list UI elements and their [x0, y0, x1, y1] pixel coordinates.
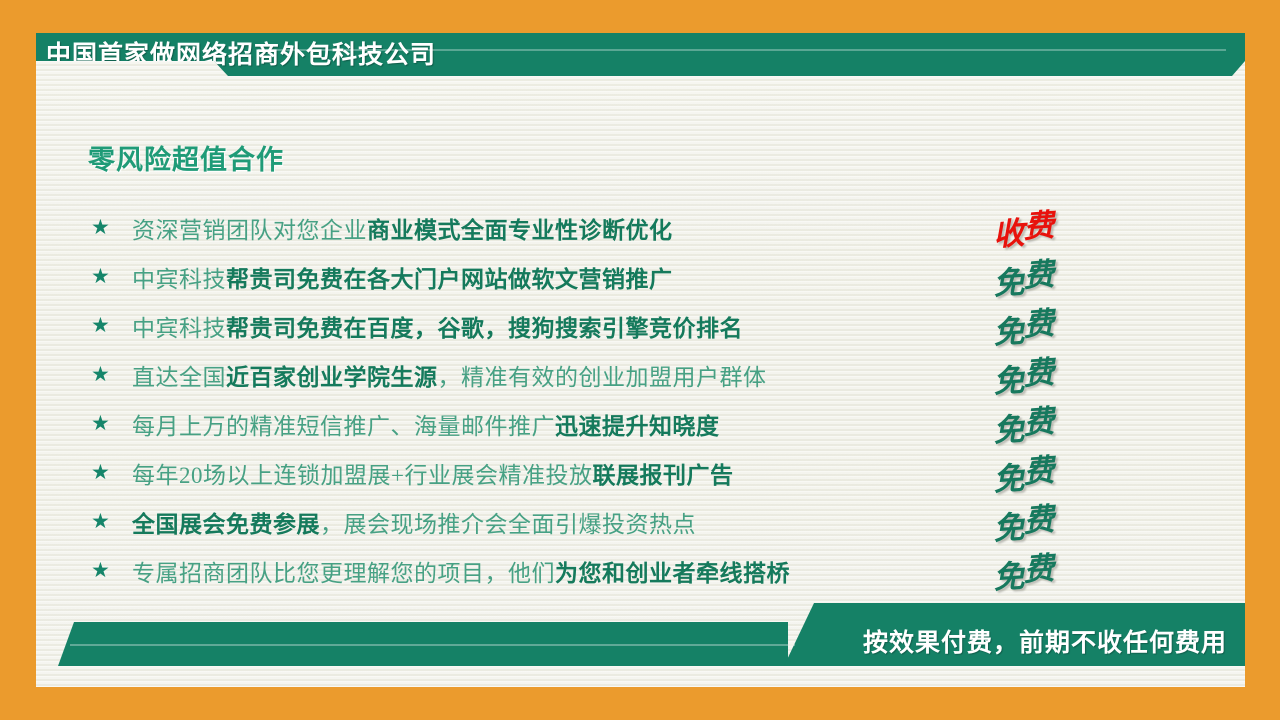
- bullet-row: ★每月上万的精准短信推广、海量邮件推广迅速提升知晓度免费: [88, 399, 1098, 448]
- bullet-text-emphasis: 商业模式全面专业性诊断优化: [367, 218, 673, 243]
- bullet-text-lead: 直达全国: [132, 365, 226, 390]
- bullet-row: ★资深营销团队对您企业商业模式全面专业性诊断优化收费: [88, 203, 1098, 252]
- bullet-row: ★每年20场以上连锁加盟展+行业展会精准投放联展报刊广告免费: [88, 448, 1098, 497]
- header-band: 中国首家做网络招商外包科技公司: [36, 33, 1245, 76]
- slide-canvas: 中国首家做网络招商外包科技公司 零风险超值合作 ★资深营销团队对您企业商业模式全…: [36, 33, 1245, 687]
- star-icon: ★: [88, 462, 132, 483]
- bullet-text-lead: 中宾科技: [132, 316, 226, 341]
- bullet-text: 每月上万的精准短信推广、海量邮件推广迅速提升知晓度: [132, 407, 1098, 441]
- bullet-row: ★专属招商团队比您更理解您的项目，他们为您和创业者牵线搭桥免费: [88, 546, 1098, 595]
- price-badge: 免费: [968, 352, 1078, 397]
- price-badge: 免费: [968, 401, 1078, 446]
- bullet-text-emphasis: 帮贵司免费在百度，谷歌，搜狗搜索引擎竞价排名: [226, 316, 743, 341]
- star-icon: ★: [88, 413, 132, 434]
- bullet-row: ★中宾科技帮贵司免费在百度，谷歌，搜狗搜索引擎竞价排名免费: [88, 301, 1098, 350]
- bullet-text: 资深营销团队对您企业商业模式全面专业性诊断优化: [132, 211, 1098, 245]
- bullet-text-lead: 中宾科技: [132, 267, 226, 292]
- bullet-text-emphasis: 为您和创业者牵线搭桥: [555, 561, 790, 586]
- bullet-text-lead: 每月上万的精准短信推广、海量邮件推广: [132, 414, 555, 439]
- price-badge: 免费: [968, 450, 1078, 495]
- bullet-text: 直达全国近百家创业学院生源，精准有效的创业加盟用户群体: [132, 358, 1098, 392]
- bullet-text: 每年20场以上连锁加盟展+行业展会精准投放联展报刊广告: [132, 456, 1098, 490]
- bullet-row: ★中宾科技帮贵司免费在各大门户网站做软文营销推广免费: [88, 252, 1098, 301]
- bullet-text-emphasis: 帮贵司免费在各大门户网站做软文营销推广: [226, 267, 673, 292]
- bullet-list: ★资深营销团队对您企业商业模式全面专业性诊断优化收费★中宾科技帮贵司免费在各大门…: [88, 203, 1098, 595]
- footer-band: 按效果付费，前期不收任何费用: [36, 609, 1245, 687]
- price-badge: 免费: [968, 548, 1078, 593]
- slide-root: 中国首家做网络招商外包科技公司 零风险超值合作 ★资深营销团队对您企业商业模式全…: [0, 0, 1280, 720]
- price-badge: 收费: [968, 205, 1078, 250]
- footer-text: 按效果付费，前期不收任何费用: [863, 623, 1227, 659]
- star-icon: ★: [88, 217, 132, 238]
- bullet-text-emphasis: 联展报刊广告: [592, 463, 733, 488]
- bullet-text-lead: 每年20场以上连锁加盟展+行业展会精准投放: [132, 463, 592, 488]
- bullet-text-tail: ，精准有效的创业加盟用户群体: [438, 365, 767, 390]
- star-icon: ★: [88, 266, 132, 287]
- price-badge: 免费: [968, 499, 1078, 544]
- bullet-text-tail: ，展会现场推介会全面引爆投资热点: [320, 512, 696, 537]
- bullet-text-emphasis: 近百家创业学院生源: [226, 365, 438, 390]
- bullet-text: 中宾科技帮贵司免费在百度，谷歌，搜狗搜索引擎竞价排名: [132, 309, 1098, 343]
- bullet-row: ★全国展会免费参展，展会现场推介会全面引爆投资热点免费: [88, 497, 1098, 546]
- bullet-text-lead: 资深营销团队对您企业: [132, 218, 367, 243]
- header-hairline-divider: [258, 49, 1226, 51]
- star-icon: ★: [88, 364, 132, 385]
- bullet-text-emphasis: 全国展会免费参展: [132, 512, 320, 537]
- bullet-text: 中宾科技帮贵司免费在各大门户网站做软文营销推广: [132, 260, 1098, 294]
- bullet-text: 全国展会免费参展，展会现场推介会全面引爆投资热点: [132, 505, 1098, 539]
- bullet-row: ★直达全国近百家创业学院生源，精准有效的创业加盟用户群体免费: [88, 350, 1098, 399]
- bullet-text-emphasis: 迅速提升知晓度: [555, 414, 720, 439]
- price-badge: 免费: [968, 254, 1078, 299]
- bullet-text-lead: 专属招商团队比您更理解您的项目，他们: [132, 561, 555, 586]
- section-heading: 零风险超值合作: [88, 138, 284, 177]
- star-icon: ★: [88, 560, 132, 581]
- star-icon: ★: [88, 511, 132, 532]
- footer-hairline-divider: [70, 644, 795, 646]
- bullet-text: 专属招商团队比您更理解您的项目，他们为您和创业者牵线搭桥: [132, 554, 1098, 588]
- price-badge: 免费: [968, 303, 1078, 348]
- star-icon: ★: [88, 315, 132, 336]
- header-title: 中国首家做网络招商外包科技公司: [46, 35, 436, 75]
